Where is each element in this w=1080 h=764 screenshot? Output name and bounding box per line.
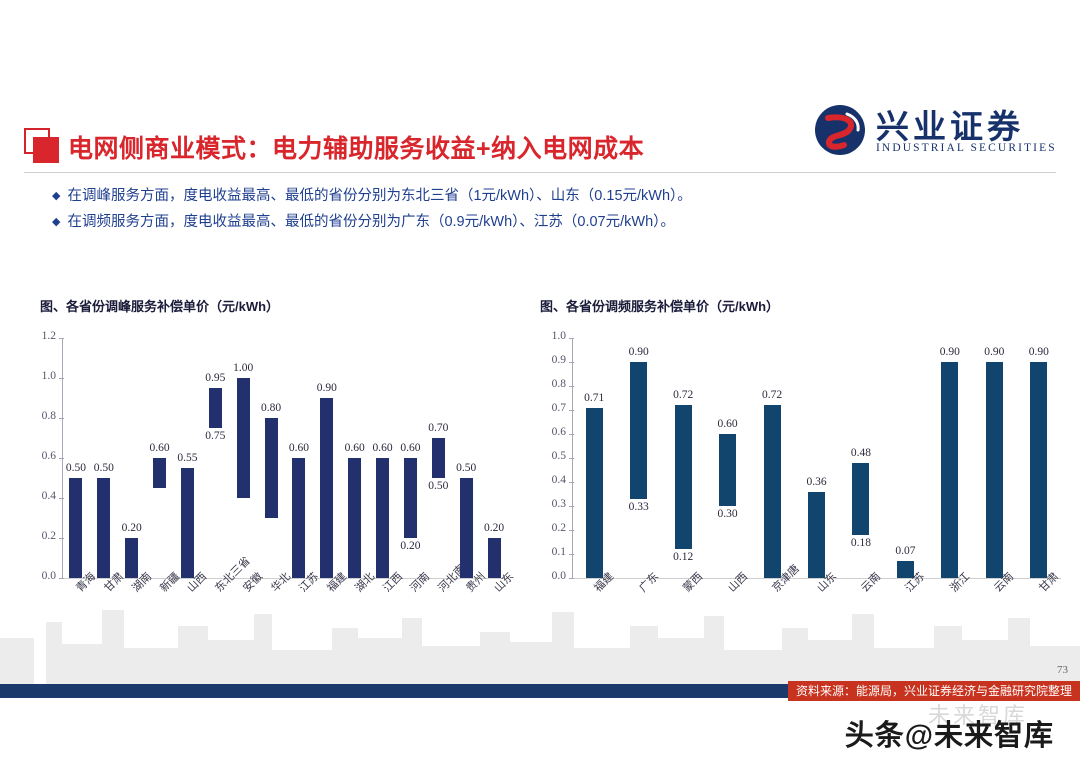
bar: [265, 418, 278, 518]
bar-value-label-top: 0.80: [251, 402, 291, 414]
skyline-building: [510, 642, 552, 684]
skyline-building: [962, 640, 1008, 684]
chart-title-frequency-regulation: 图、各省份调频服务补偿单价（元/kWh）: [540, 296, 779, 315]
chart-title-peak-shaving: 图、各省份调峰服务补偿单价（元/kWh）: [40, 296, 279, 315]
bar: [348, 458, 361, 578]
bar-value-label-top: 0.50: [84, 462, 124, 474]
skyline-building: [254, 614, 272, 684]
y-axis-tick: [569, 554, 574, 555]
logo-mark-icon: [814, 104, 866, 156]
skyline-building: [208, 640, 254, 684]
y-axis-tick-label: 0.4: [532, 474, 566, 486]
y-axis-tick-label: 0.3: [532, 498, 566, 510]
chart-frequency-regulation: 0.00.10.20.30.40.50.60.70.80.91.00.71福建0…: [530, 326, 1075, 626]
skyline-building: [272, 650, 332, 684]
skyline-building: [62, 644, 102, 684]
skyline-building: [1008, 618, 1030, 684]
bullet-text: 在调峰服务方面，度电收益最高、最低的省份分别为东北三省（1元/kWh）、山东（0…: [67, 186, 691, 206]
bar-value-label-bottom: 0.20: [390, 540, 430, 552]
bar: [153, 458, 166, 488]
y-axis-tick: [59, 338, 64, 339]
bar: [764, 405, 781, 578]
bar-value-label-top: 0.60: [279, 442, 319, 454]
y-axis-tick-label: 0.6: [532, 426, 566, 438]
y-axis-tick-label: 1.0: [22, 370, 56, 382]
bar: [69, 478, 82, 578]
y-axis-tick: [569, 338, 574, 339]
y-axis-tick: [59, 578, 64, 579]
bar-value-label-bottom: 0.50: [418, 480, 458, 492]
bullet-list: ◆ 在调峰服务方面，度电收益最高、最低的省份分别为东北三省（1元/kWh）、山东…: [52, 186, 1032, 238]
x-axis-label: 山西: [724, 568, 751, 595]
bar-value-label-top: 0.72: [752, 389, 792, 401]
skyline-building: [658, 638, 704, 684]
x-axis-label: 广东: [635, 568, 662, 595]
bar: [404, 458, 417, 538]
skyline-building: [124, 648, 178, 684]
bar-value-label-top: 0.90: [619, 346, 659, 358]
y-axis-tick: [569, 458, 574, 459]
page-title: 电网侧商业模式：电力辅助服务收益+纳入电网成本: [68, 129, 644, 165]
bar: [675, 405, 692, 549]
y-axis-tick: [569, 506, 574, 507]
bar: [1030, 362, 1047, 578]
bar: [630, 362, 647, 499]
bar-value-label-top: 0.48: [841, 447, 881, 459]
bar-value-label-top: 0.90: [307, 382, 347, 394]
bar: [97, 478, 110, 578]
y-axis-tick: [569, 362, 574, 363]
y-axis-tick-label: 1.0: [532, 330, 566, 342]
bar: [586, 408, 603, 578]
y-axis-tick-label: 0.8: [532, 378, 566, 390]
x-axis-label: 华北: [267, 568, 294, 595]
logo-company-name-en: INDUSTRIAL SECURITIES: [876, 142, 1057, 154]
y-axis-tick: [59, 498, 64, 499]
y-axis-tick-label: 0.4: [22, 490, 56, 502]
y-axis-tick: [59, 458, 64, 459]
bullet-text: 在调频服务方面，度电收益最高、最低的省份分别为广东（0.9元/kWh）、江苏（0…: [67, 212, 674, 232]
skyline-building: [332, 628, 358, 684]
bar: [237, 378, 250, 498]
bar-value-label-bottom: 0.18: [841, 537, 881, 549]
bar-value-label-top: 0.36: [797, 476, 837, 488]
x-axis-label: 河南: [406, 568, 433, 595]
y-axis-tick: [569, 578, 574, 579]
y-axis-tick-label: 0.1: [532, 546, 566, 558]
y-axis-tick: [59, 378, 64, 379]
bar-value-label-top: 0.20: [474, 522, 514, 534]
bar-value-label-top: 0.07: [885, 545, 925, 557]
y-axis-tick: [569, 434, 574, 435]
logo-company-name: 兴业证券: [876, 100, 1024, 148]
chart-peak-shaving: 0.00.20.40.60.81.01.20.50青海0.50甘肃0.20湖南0…: [20, 326, 520, 626]
bullet-item: ◆ 在调频服务方面，度电收益最高、最低的省份分别为广东（0.9元/kWh）、江苏…: [52, 212, 1032, 232]
y-axis-tick-label: 1.2: [22, 330, 56, 342]
y-axis-tick-label: 0.9: [532, 354, 566, 366]
y-axis-tick-label: 0.2: [22, 530, 56, 542]
bar-value-label-top: 0.71: [574, 392, 614, 404]
skyline-building: [46, 622, 62, 684]
bar-value-label-bottom: 0.30: [708, 508, 748, 520]
bar-value-label-bottom: 0.33: [619, 501, 659, 513]
skyline-building: [422, 646, 480, 684]
bar: [719, 434, 736, 506]
skyline-building: [852, 614, 874, 684]
bar: [432, 438, 445, 478]
bar: [941, 362, 958, 578]
header-divider: [24, 172, 1056, 173]
diamond-bullet-icon: ◆: [52, 186, 60, 206]
diamond-bullet-icon: ◆: [52, 212, 60, 232]
bullet-item: ◆ 在调峰服务方面，度电收益最高、最低的省份分别为东北三省（1元/kWh）、山东…: [52, 186, 1032, 206]
y-axis-tick-label: 0.2: [532, 522, 566, 534]
bar: [181, 468, 194, 578]
bar-value-label-top: 0.20: [112, 522, 152, 534]
bar-value-label-top: 0.72: [663, 389, 703, 401]
bar-value-label-top: 0.50: [446, 462, 486, 474]
bar: [320, 398, 333, 578]
bar: [986, 362, 1003, 578]
y-axis-tick-label: 0.6: [22, 450, 56, 462]
bar: [209, 388, 222, 428]
red-square-filled-icon: [33, 137, 59, 163]
skyline-building: [0, 638, 34, 684]
skyline-building: [808, 640, 852, 684]
y-axis-tick: [569, 410, 574, 411]
slide: 电网侧商业模式：电力辅助服务收益+纳入电网成本 兴业证券 INDUSTRIAL …: [0, 0, 1080, 764]
bar-value-label-bottom: 0.75: [195, 430, 235, 442]
skyline-building: [630, 626, 658, 684]
skyline-building: [574, 648, 630, 684]
skyline-building: [782, 628, 808, 684]
bar-value-label-top: 0.55: [167, 452, 207, 464]
y-axis-tick: [569, 482, 574, 483]
bar-value-label-top: 0.90: [930, 346, 970, 358]
y-axis-tick: [569, 386, 574, 387]
bar-value-label-bottom: 0.12: [663, 551, 703, 563]
watermark: 头条@未来智库: [845, 712, 1054, 754]
y-axis-tick-label: 0.0: [532, 570, 566, 582]
y-axis-tick: [59, 418, 64, 419]
y-axis-tick-label: 0.7: [532, 402, 566, 414]
bar: [125, 538, 138, 578]
bar-value-label-top: 0.60: [708, 418, 748, 430]
bar: [852, 463, 869, 535]
y-axis-tick-label: 0.8: [22, 410, 56, 422]
skyline-decoration: [0, 594, 1080, 684]
skyline-building: [480, 632, 510, 684]
company-logo: 兴业证券 INDUSTRIAL SECURITIES: [814, 100, 1044, 168]
skyline-building: [934, 626, 962, 684]
skyline-building: [102, 610, 124, 684]
skyline-building: [874, 648, 934, 684]
page-number: 73: [1057, 664, 1068, 676]
bar: [808, 492, 825, 578]
y-axis-tick: [59, 538, 64, 539]
bar: [376, 458, 389, 578]
bar-value-label-top: 1.00: [223, 362, 263, 374]
x-axis-label: 蒙西: [679, 568, 706, 595]
skyline-building: [724, 650, 782, 684]
y-axis-tick-label: 0.0: [22, 570, 56, 582]
skyline-building: [402, 618, 422, 684]
bar: [488, 538, 501, 578]
skyline-building: [178, 626, 208, 684]
skyline-building: [1030, 646, 1080, 684]
bar: [292, 458, 305, 578]
skyline-building: [552, 612, 574, 684]
y-axis-tick: [569, 530, 574, 531]
y-axis-tick-label: 0.5: [532, 450, 566, 462]
skyline-building: [358, 638, 402, 684]
bar-value-label-top: 0.70: [418, 422, 458, 434]
bar: [460, 478, 473, 578]
bar-value-label-top: 0.60: [390, 442, 430, 454]
x-axis-label: 云南: [857, 568, 884, 595]
x-axis-label: 新疆: [156, 568, 183, 595]
skyline-building: [704, 616, 724, 684]
bar-value-label-top: 0.90: [1019, 346, 1059, 358]
bar-value-label-top: 0.90: [974, 346, 1014, 358]
